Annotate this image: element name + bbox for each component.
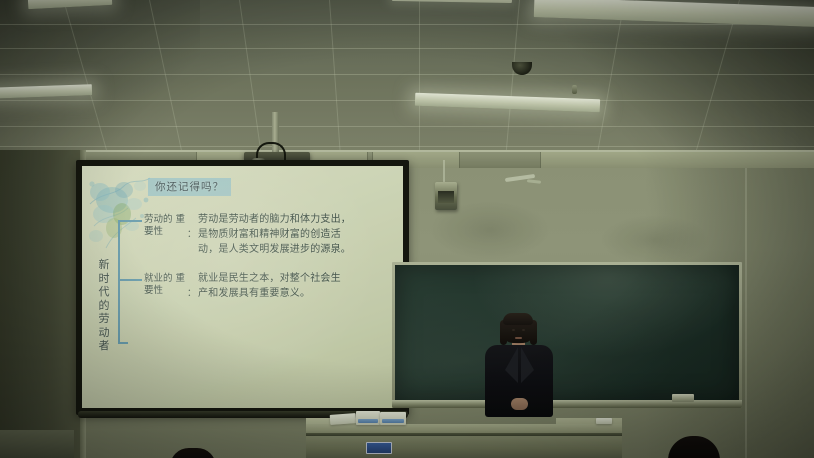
row-line-2-1: 就业是民生之本，对整个社会生 — [198, 271, 341, 286]
podium-paper[interactable] — [330, 413, 357, 425]
wall-speaker-grille — [438, 191, 454, 203]
row-label-2: 就业的 重要性 — [144, 273, 188, 296]
wall-conduit — [443, 160, 445, 184]
brace-arm-top — [118, 220, 142, 222]
chalkboard — [395, 265, 739, 402]
projection-screen: 你还记得吗？ 新时代的劳动者 劳动的 重要性 ： 劳动是劳动者的脑力和体力支出，… — [82, 166, 403, 408]
ceiling-grid-line — [419, 0, 420, 170]
left-wall — [0, 150, 84, 458]
brace-vertical — [118, 220, 120, 342]
classroom-photo: 你还记得吗？ 新时代的劳动者 劳动的 重要性 ： 劳动是劳动者的脑力和体力支出，… — [0, 0, 814, 458]
ceiling-grid-line — [0, 146, 814, 147]
chalkboard-eraser[interactable] — [672, 394, 694, 402]
teacher-hands — [511, 398, 528, 410]
row-colon-1: ： — [187, 226, 197, 240]
side-desk-left — [0, 430, 74, 458]
podium-paper[interactable] — [596, 418, 612, 424]
sprinkler-head-icon — [572, 85, 577, 94]
brace-arm-bottom — [118, 342, 128, 344]
teacher-hair-fringe — [503, 313, 533, 325]
wall-corner-edge — [745, 168, 747, 458]
row-line-1-2: 是物质财富和精神财富的创造活 — [198, 227, 341, 242]
ceiling-grid-line — [0, 24, 814, 25]
ceiling-grid-line — [0, 48, 814, 49]
wall-smudge — [600, 215, 710, 265]
row-line-1-3: 动，是人类文明发展进步的源泉。 — [198, 242, 351, 257]
row-line-2-2: 产和发展具有重要意义。 — [198, 286, 310, 301]
slide-vertical-heading: 新时代的劳动者 — [94, 258, 114, 353]
ceiling-grid-line — [0, 100, 814, 101]
podium-control-badge[interactable] — [366, 442, 392, 454]
podium-body — [306, 434, 622, 458]
brace-arm-middle — [118, 279, 142, 281]
podium-paper-band — [382, 419, 404, 423]
teacher-mouth — [515, 337, 522, 339]
wall-speaker-box[interactable] — [435, 182, 457, 210]
podium-rail — [306, 433, 622, 436]
slide-title: 你还记得吗？ — [148, 178, 231, 196]
row-colon-2: ： — [187, 285, 197, 299]
row-label-1: 劳动的 重要性 — [144, 214, 188, 237]
ceiling-grid-line — [0, 126, 814, 127]
teacher-eye-left — [512, 329, 515, 331]
ceiling-shadow-left — [0, 0, 200, 168]
teacher-eye-right — [522, 329, 525, 331]
row-line-1-1: 劳动是劳动者的脑力和体力支出， — [198, 212, 351, 227]
ceiling-grid-line — [0, 74, 814, 75]
podium-paper-band — [358, 419, 378, 423]
